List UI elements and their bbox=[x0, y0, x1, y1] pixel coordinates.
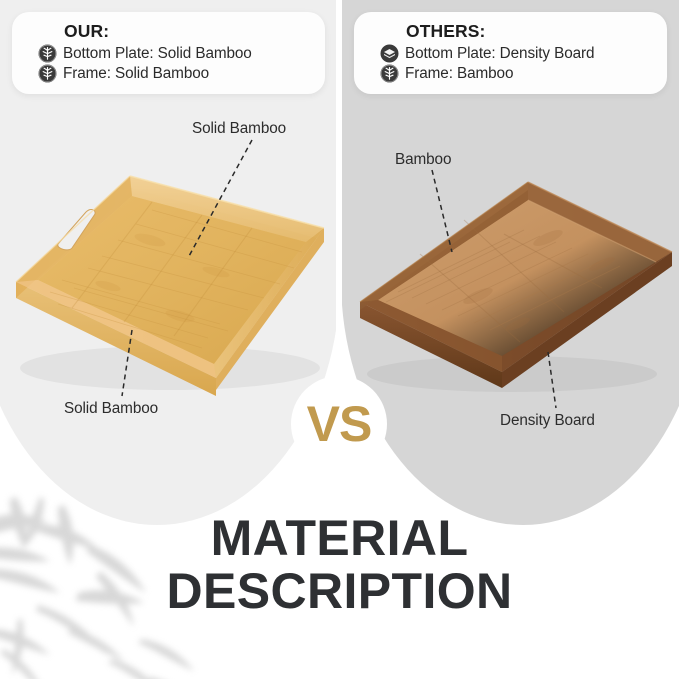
page-title-line-2: DESCRIPTION bbox=[0, 565, 679, 618]
left-product-image bbox=[2, 168, 332, 396]
layered-board-icon bbox=[380, 44, 399, 63]
others-spec-row-frame: Frame: Bamboo bbox=[380, 64, 653, 83]
callout-left-top: Solid Bamboo bbox=[192, 120, 286, 138]
callout-right-bottom: Density Board bbox=[500, 412, 595, 430]
others-spec-row-bottom-plate: Bottom Plate: Density Board bbox=[380, 44, 653, 63]
right-product-image bbox=[352, 176, 678, 400]
our-spec-row-frame: Frame: Solid Bamboo bbox=[38, 64, 311, 83]
others-spec-card: OTHERS: Bottom Plate: Density Board bbox=[354, 12, 667, 94]
vs-badge: VS bbox=[291, 376, 387, 472]
our-spec-bottom-plate-text: Bottom Plate: Solid Bamboo bbox=[63, 45, 252, 63]
bamboo-badge-icon bbox=[380, 64, 399, 83]
others-spec-frame-text: Frame: Bamboo bbox=[405, 65, 513, 83]
page-title: MATERIAL DESCRIPTION bbox=[0, 512, 679, 617]
callout-right-top: Bamboo bbox=[395, 151, 451, 169]
others-card-title: OTHERS: bbox=[380, 21, 653, 42]
our-spec-row-bottom-plate: Bottom Plate: Solid Bamboo bbox=[38, 44, 311, 63]
bamboo-badge-icon bbox=[38, 64, 57, 83]
others-spec-bottom-plate-text: Bottom Plate: Density Board bbox=[405, 45, 594, 63]
callout-left-bottom: Solid Bamboo bbox=[64, 400, 158, 418]
our-card-title: OUR: bbox=[38, 21, 311, 42]
our-spec-card: OUR: Bottom Plate: Solid Bamboo bbox=[12, 12, 325, 94]
bamboo-badge-icon bbox=[38, 44, 57, 63]
page-title-line-1: MATERIAL bbox=[0, 512, 679, 565]
vs-label: VS bbox=[307, 399, 372, 449]
comparison-infographic: Solid Bamboo Solid Bamboo Bamboo Density… bbox=[0, 0, 679, 679]
our-spec-frame-text: Frame: Solid Bamboo bbox=[63, 65, 209, 83]
